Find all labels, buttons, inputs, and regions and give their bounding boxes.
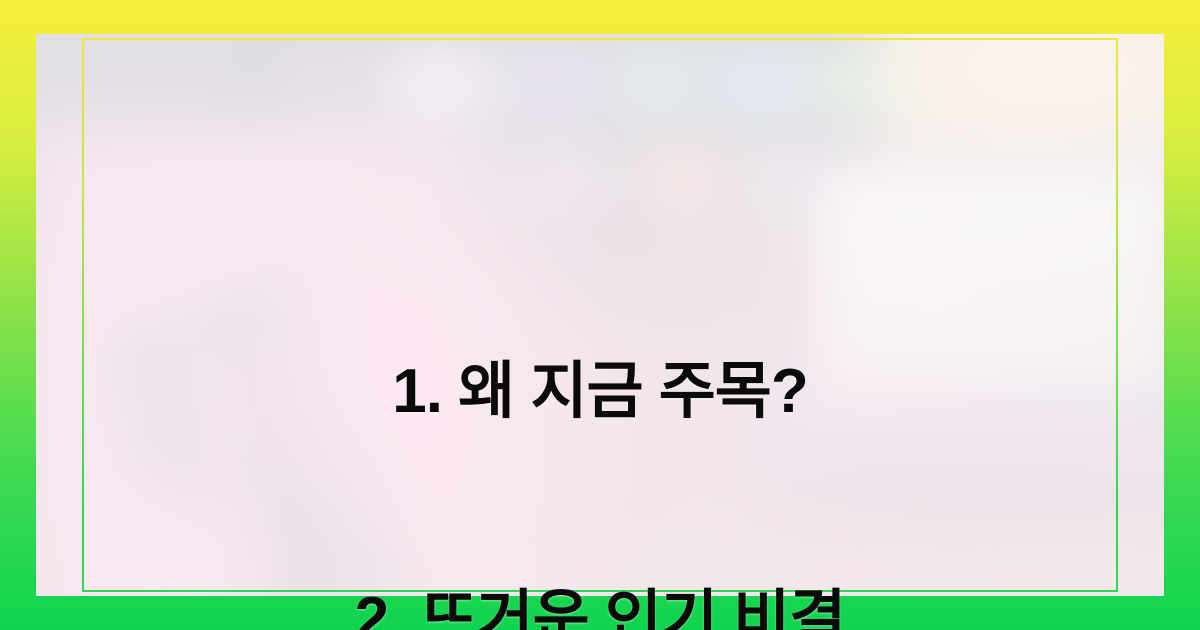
headline-text: 1. 왜 지금 주목? 2. 뜨거운 인기 비결 3. 놓치면 후회! <box>0 202 1200 630</box>
headline-line-2: 2. 뜨거운 인기 비결 <box>0 582 1200 630</box>
headline-line-1: 1. 왜 지금 주목? <box>0 354 1200 430</box>
promo-card: 1. 왜 지금 주목? 2. 뜨거운 인기 비결 3. 놓치면 후회! <box>0 0 1200 630</box>
